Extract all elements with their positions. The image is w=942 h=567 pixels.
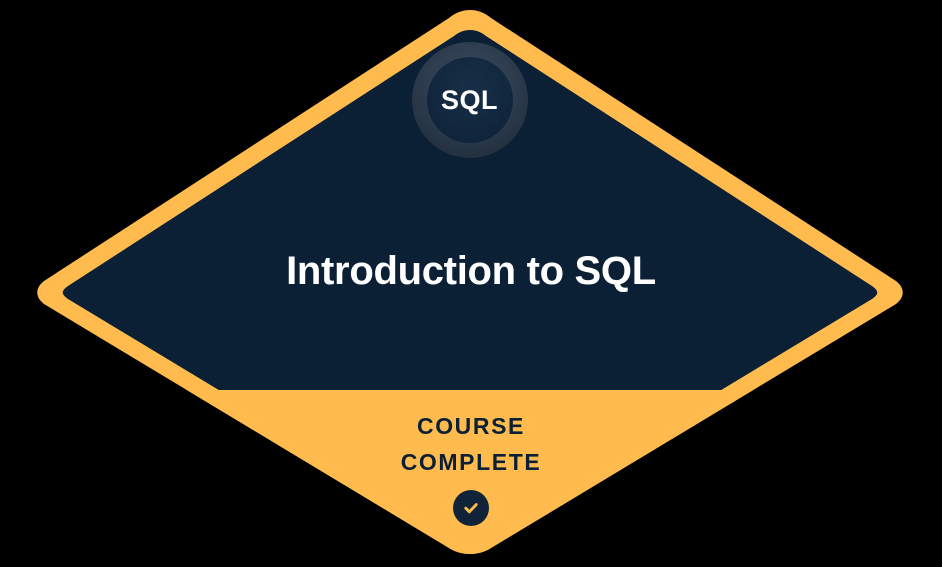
certificate-badge-canvas: SQL Introduction to SQL COURSE COMPLETE xyxy=(0,0,942,567)
badge-shape xyxy=(0,0,942,567)
sql-emblem-icon xyxy=(412,42,528,158)
